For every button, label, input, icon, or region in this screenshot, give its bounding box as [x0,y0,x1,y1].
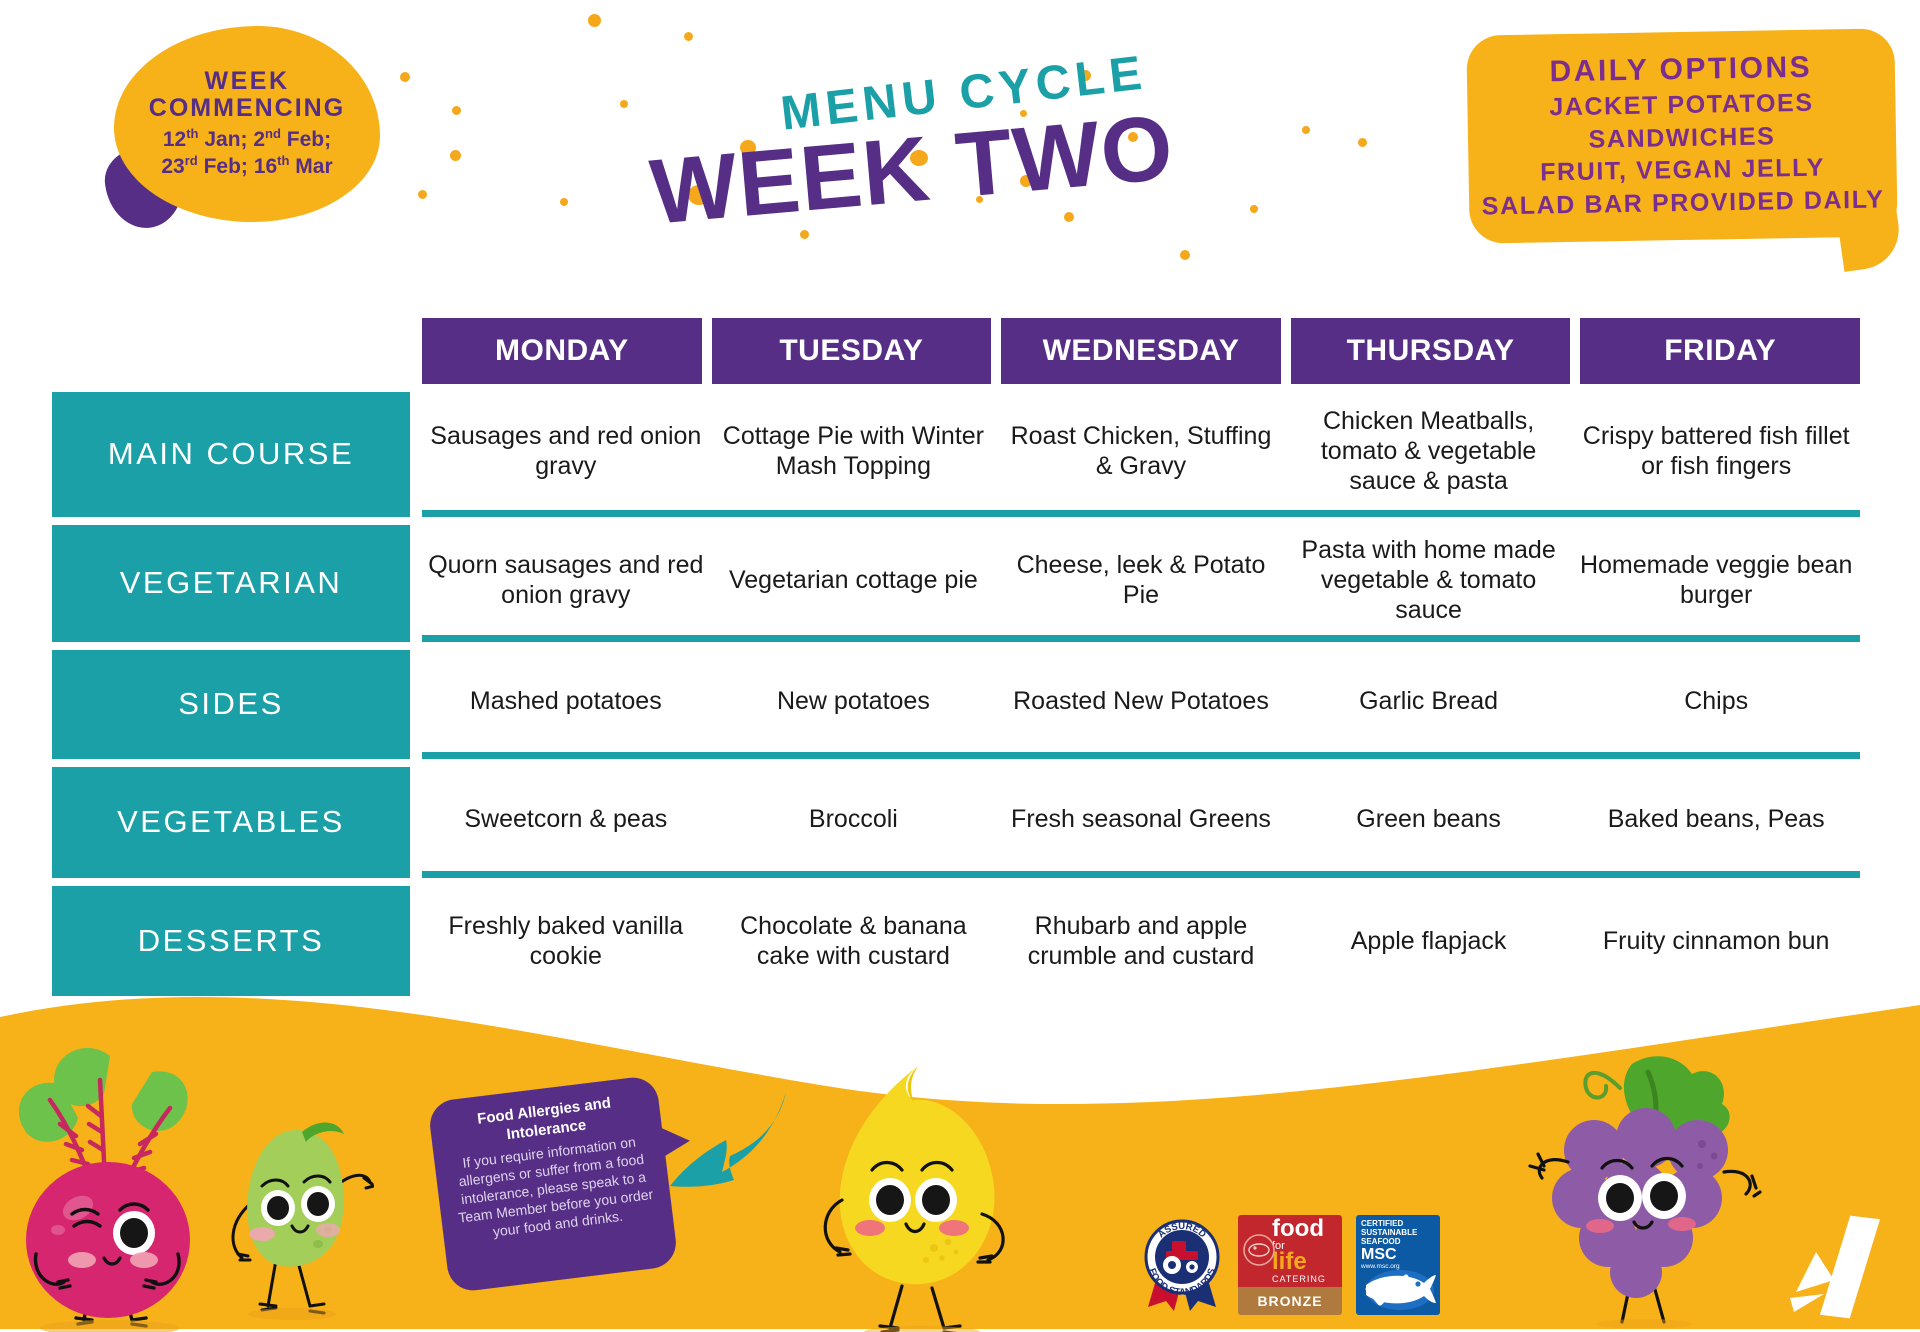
day-header-wednesday: WEDNESDAY [1001,318,1281,384]
confetti-dot [1302,126,1310,134]
menu-cell: Sweetcorn & peas [422,767,710,871]
menu-cell: Vegetarian cottage pie [710,525,998,635]
menu-cell: Cottage Pie with Winter Mash Topping [710,392,998,510]
msc-certified-logo: CERTIFIED SUSTAINABLE SEAFOOD MSC www.ms… [1356,1215,1440,1315]
table-row-vegetables: VEGETABLES Sweetcorn & peas Broccoli Fre… [52,767,1860,878]
menu-cell: Roasted New Potatoes [997,650,1285,752]
menu-cell: Green beans [1285,767,1573,871]
row-label-vegetarian: VEGETARIAN [52,525,410,642]
title-main: WEEK TWO [646,95,1177,245]
row-label-sides: SIDES [52,650,410,759]
table-row-desserts: DESSERTS Freshly baked vanilla cookie Ch… [52,886,1860,996]
menu-cell: Broccoli [710,767,998,871]
row-label-main-course: MAIN COURSE [52,392,410,517]
table-row-vegetarian: VEGETARIAN Quorn sausages and red onion … [52,525,1860,642]
confetti-dot [684,32,693,41]
row-label-desserts: DESSERTS [52,886,410,996]
ffl-subtitle: CATERING [1272,1275,1326,1284]
menu-cell: Homemade veggie bean burger [1572,525,1860,635]
msc-line3: SEAFOOD [1361,1238,1435,1247]
confetti-dot [400,72,410,82]
ffl-award-level: BRONZE [1238,1287,1342,1315]
menu-cell: Mashed potatoes [422,650,710,752]
row-label-vegetables: VEGETABLES [52,767,410,878]
confetti-dot [1358,138,1367,147]
menu-cell: Chicken Meatballs, tomato & vegetable sa… [1285,392,1573,510]
accreditation-logos: ASSURED FOOD STANDARDS food for life CAT… [1140,1215,1440,1315]
table-row-sides: SIDES Mashed potatoes New potatoes Roast… [52,650,1860,759]
ffl-word-food: food [1272,1218,1326,1241]
lemon-character [806,1056,1036,1332]
daily-options-panel: DAILY OPTIONS JACKET POTATOES SANDWICHES… [1466,28,1898,243]
menu-cell: Roast Chicken, Stuffing & Gravy [997,392,1285,510]
menu-cell: Quorn sausages and red onion gravy [422,525,710,635]
menu-cell: Cheese, leek & Potato Pie [997,525,1285,635]
day-header-friday: FRIDAY [1580,318,1860,384]
week-commencing-dates: 12th Jan; 2nd Feb; 23rd Feb; 16th Mar [142,126,352,179]
menu-cell: Garlic Bread [1285,650,1573,752]
confetti-dot [452,106,461,115]
confetti-dot [418,190,427,199]
menu-cell: Pasta with home made vegetable & tomato … [1285,525,1573,635]
menu-cell: Fresh seasonal Greens [997,767,1285,871]
pea-pod-character [214,1094,374,1324]
allergy-notice-bubble: Food Allergies and Intolerance If you re… [427,1075,679,1294]
menu-cell: Baked beans, Peas [1572,767,1860,871]
msc-fish-tick-icon [1358,1267,1438,1313]
grape-character [1524,1046,1774,1328]
confetti-dot [560,198,568,206]
menu-cell: Fruity cinnamon bun [1572,886,1860,996]
week-commencing-badge: WEEK COMMENCING 12th Jan; 2nd Feb; 23rd … [88,20,398,235]
ffl-word-life: life [1272,1251,1326,1274]
menu-table: MONDAY TUESDAY WEDNESDAY THURSDAY FRIDAY… [52,318,1860,996]
table-row-main-course: MAIN COURSE Sausages and red onion gravy… [52,392,1860,517]
menu-cell: New potatoes [710,650,998,752]
msc-acronym: MSC [1361,1247,1435,1263]
week-commencing-line2: COMMENCING [149,95,345,122]
menu-cell: Apple flapjack [1285,886,1573,996]
daily-option-item: SANDWICHES [1588,120,1775,156]
menu-cell: Rhubarb and apple crumble and custard [997,886,1285,996]
soil-association-stamp-icon [1242,1229,1276,1273]
menu-cell: Crispy battered fish fillet or fish fing… [1572,392,1860,510]
daily-options-heading: DAILY OPTIONS [1549,51,1812,90]
confetti-dot [1180,250,1190,260]
table-header-row: MONDAY TUESDAY WEDNESDAY THURSDAY FRIDAY [422,318,1860,384]
confetti-dot [450,150,461,161]
page-title: MENU CYCLE WEEK TWO [620,48,1280,248]
food-for-life-logo: food for life CATERING BRONZE [1238,1215,1342,1315]
confetti-dot [588,14,601,27]
brand-logo-icon [1782,1212,1902,1322]
daily-option-item: FRUIT, VEGAN JELLY [1540,152,1825,189]
daily-option-item: JACKET POTATOES [1549,87,1814,124]
day-header-thursday: THURSDAY [1291,318,1571,384]
menu-cell: Freshly baked vanilla cookie [422,886,710,996]
day-header-tuesday: TUESDAY [712,318,992,384]
menu-cell: Chips [1572,650,1860,752]
menu-cell: Sausages and red onion gravy [422,392,710,510]
menu-cell: Chocolate & banana cake with custard [710,886,998,996]
assured-food-standards-logo: ASSURED FOOD STANDARDS [1140,1215,1224,1315]
week-commencing-line1: WEEK [205,68,290,95]
day-header-monday: MONDAY [422,318,702,384]
daily-option-item: SALAD BAR PROVIDED DAILY [1482,183,1885,223]
beetroot-character [0,1032,222,1332]
